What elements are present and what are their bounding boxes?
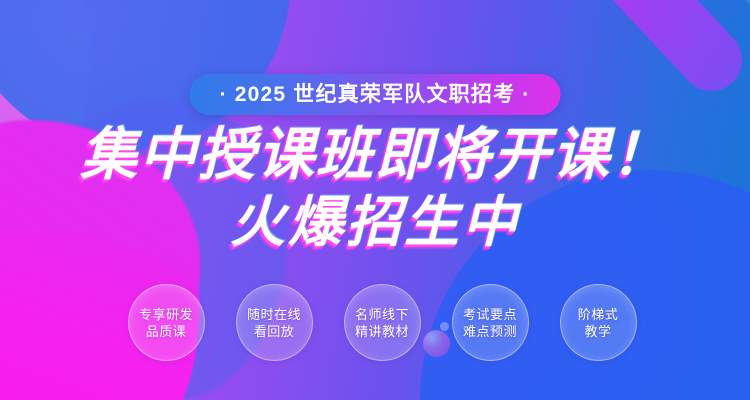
feature-4-line-2: 难点预测: [463, 323, 517, 340]
feature-1-line-1: 专享研发: [139, 306, 193, 323]
feature-5-line-2: 教学: [584, 323, 611, 340]
feature-2-line-2: 看回放: [254, 323, 295, 340]
feature-3-line-1: 名师线下: [355, 306, 409, 323]
feature-2-line-1: 随时在线: [247, 306, 301, 323]
feature-5-line-1: 阶梯式: [578, 306, 619, 323]
feature-circle-5[interactable]: 阶梯式 教学: [560, 284, 637, 361]
feature-circle-2[interactable]: 随时在线 看回放: [236, 284, 313, 361]
campaign-badge: · 2025 世纪真荣军队文职招考 ·: [189, 74, 560, 115]
feature-1-line-2: 品质课: [146, 323, 187, 340]
headline-line-1: 集中授课班即将开课！: [0, 125, 750, 185]
feature-circle-4[interactable]: 考试要点 难点预测: [452, 284, 529, 361]
banner-content: · 2025 世纪真荣军队文职招考 · 集中授课班即将开课！ 火爆招生中 专享研…: [0, 0, 750, 400]
feature-3-line-2: 精讲教材: [355, 323, 409, 340]
feature-circle-row: 专享研发 品质课 随时在线 看回放 名师线下 精讲教材 考试要点 难点预测 阶梯…: [0, 284, 750, 361]
feature-4-line-1: 考试要点: [463, 306, 517, 323]
headline-line-2: 火爆招生中: [0, 192, 750, 252]
feature-circle-3[interactable]: 名师线下 精讲教材: [344, 284, 421, 361]
promo-banner: · 2025 世纪真荣军队文职招考 · 集中授课班即将开课！ 火爆招生中 专享研…: [0, 0, 750, 400]
feature-circle-1[interactable]: 专享研发 品质课: [128, 284, 205, 361]
campaign-badge-label: · 2025 世纪真荣军队文职招考 ·: [219, 84, 530, 105]
